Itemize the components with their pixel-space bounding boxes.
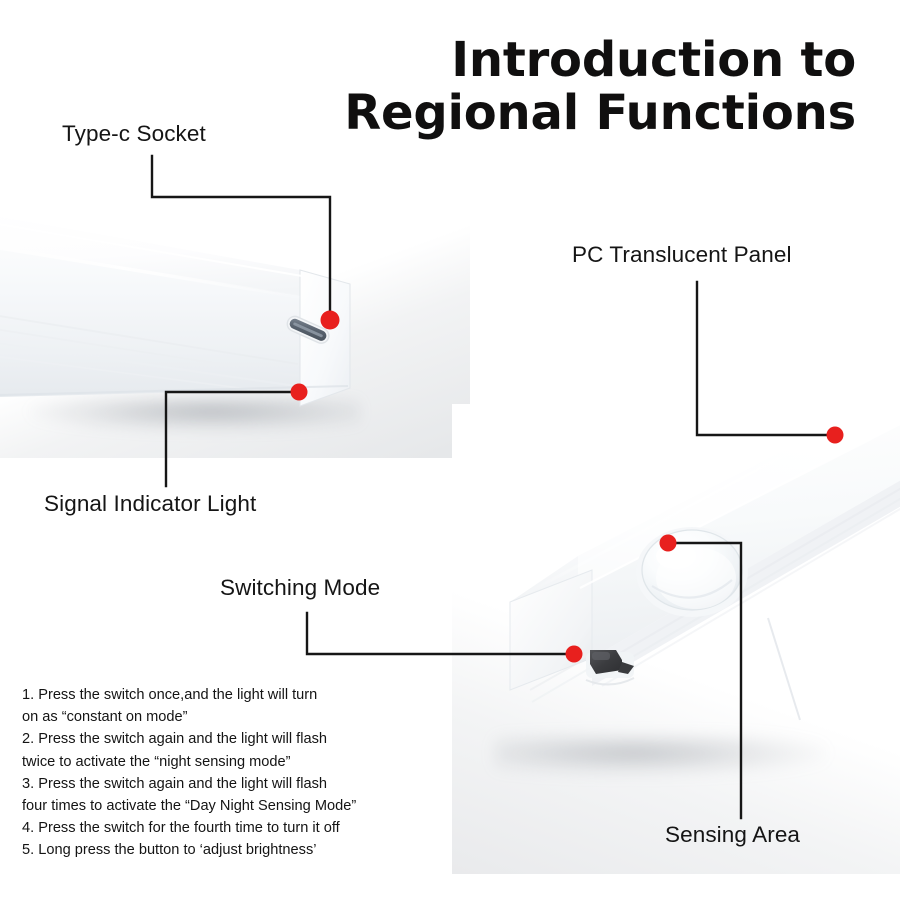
marker-dot-switching-mode [566,646,583,663]
instruction-line: on as “constant on mode” [22,706,442,728]
callout-label-type-c-socket: Type-c Socket [62,121,206,147]
callout-label-pc-translucent-panel: PC Translucent Panel [572,242,792,268]
leader-line-pc-translucent-panel [697,282,835,435]
instruction-line: twice to activate the “night sensing mod… [22,751,442,773]
operating-instructions: 1. Press the switch once,and the light w… [22,684,442,861]
infographic-canvas: Introduction to Regional Functions Type-… [0,0,900,900]
page-title-line-1: Introduction to [336,36,856,85]
callout-label-sensing-area: Sensing Area [665,822,800,848]
marker-dot-signal-indicator-light [291,384,308,401]
instruction-line: 3. Press the switch again and the light … [22,773,442,795]
page-title: Introduction to Regional Functions [336,36,856,138]
callout-label-signal-indicator-light: Signal Indicator Light [44,491,256,517]
leader-line-switching-mode [307,613,574,654]
marker-dot-pc-translucent-panel [827,427,844,444]
leader-line-type-c-socket [152,156,330,320]
marker-dot-sensing-area [660,535,677,552]
callout-label-switching-mode: Switching Mode [220,575,380,601]
instruction-line: 5. Long press the button to ‘adjust brig… [22,839,442,861]
marker-dot-type-c-socket [321,311,340,330]
instruction-line: 2. Press the switch again and the light … [22,728,442,750]
leader-line-sensing-area [668,543,741,818]
leader-line-signal-indicator-light [166,392,299,486]
page-title-line-2: Regional Functions [336,89,856,138]
instruction-line: 1. Press the switch once,and the light w… [22,684,442,706]
instruction-line: 4. Press the switch for the fourth time … [22,817,442,839]
instruction-line: four times to activate the “Day Night Se… [22,795,442,817]
